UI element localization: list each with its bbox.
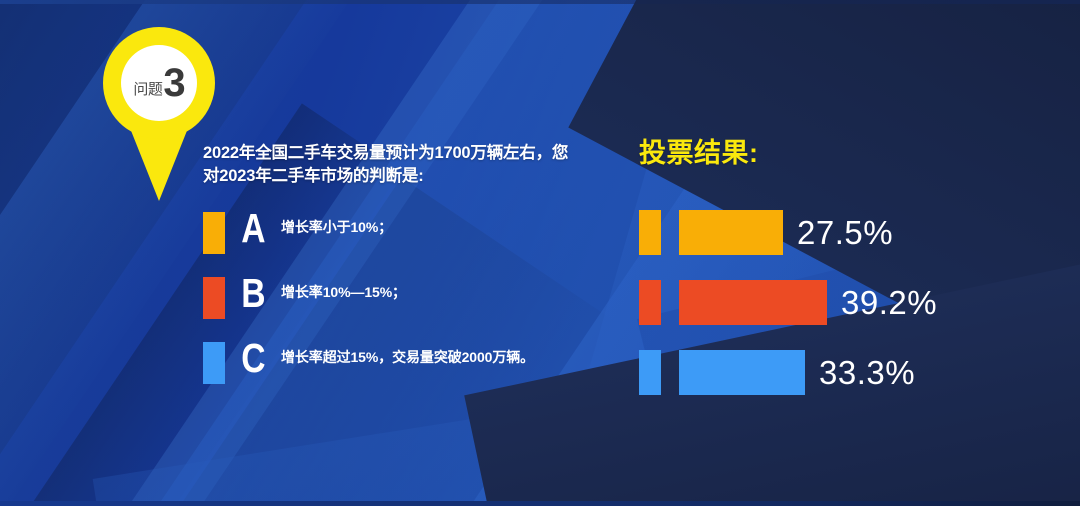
results-title: 投票结果: (639, 140, 1059, 167)
result-row-c: 33.3% (639, 337, 1059, 407)
option-letter-b: B (230, 273, 276, 313)
results-panel: 投票结果: 27.5% 39.2% 33.3% (639, 140, 1059, 407)
result-bar-b (679, 280, 827, 325)
option-color-swatch-b (203, 277, 225, 319)
option-text-b: 增长率10%—15%； (281, 276, 406, 303)
result-bar-c (679, 350, 805, 395)
question-text: 2022年全国二手车交易量预计为1700万辆左右，您对2023年二手车市场的判断… (203, 142, 575, 189)
option-text-a: 增长率小于10%； (281, 211, 392, 238)
poll-result-slide: 问题 3 2022年全国二手车交易量预计为1700万辆左右，您对2023年二手车… (0, 0, 1080, 506)
result-row-a: 27.5% (639, 197, 1059, 267)
question-panel: 2022年全国二手车交易量预计为1700万辆左右，您对2023年二手车市场的判断… (203, 142, 603, 406)
pin-inner-circle: 问题 3 (121, 45, 197, 121)
result-bar-a (679, 210, 783, 255)
option-row-b[interactable]: B 增长率10%—15%； (203, 276, 603, 341)
option-row-c[interactable]: C 增长率超过15%，交易量突破2000万辆。 (203, 341, 603, 406)
option-color-swatch-a (203, 212, 225, 254)
option-row-a[interactable]: A 增长率小于10%； (203, 211, 603, 276)
option-letter-a: A (230, 208, 276, 248)
result-percent-b: 39.2% (841, 286, 937, 319)
options-list: A 增长率小于10%； B 增长率10%—15%； C 增长率超过15%，交易量… (203, 211, 603, 406)
pin-label: 问题 (133, 78, 162, 99)
result-percent-a: 27.5% (797, 216, 893, 249)
option-color-swatch-c (203, 342, 225, 384)
result-color-swatch-a (639, 210, 661, 255)
question-pin-badge: 问题 3 (103, 27, 215, 202)
result-color-swatch-c (639, 350, 661, 395)
pin-number: 3 (163, 63, 184, 103)
result-percent-c: 33.3% (819, 356, 915, 389)
option-text-c: 增长率超过15%，交易量突破2000万辆。 (281, 341, 534, 368)
result-row-b: 39.2% (639, 267, 1059, 337)
result-color-swatch-b (639, 280, 661, 325)
option-letter-c: C (230, 338, 276, 378)
